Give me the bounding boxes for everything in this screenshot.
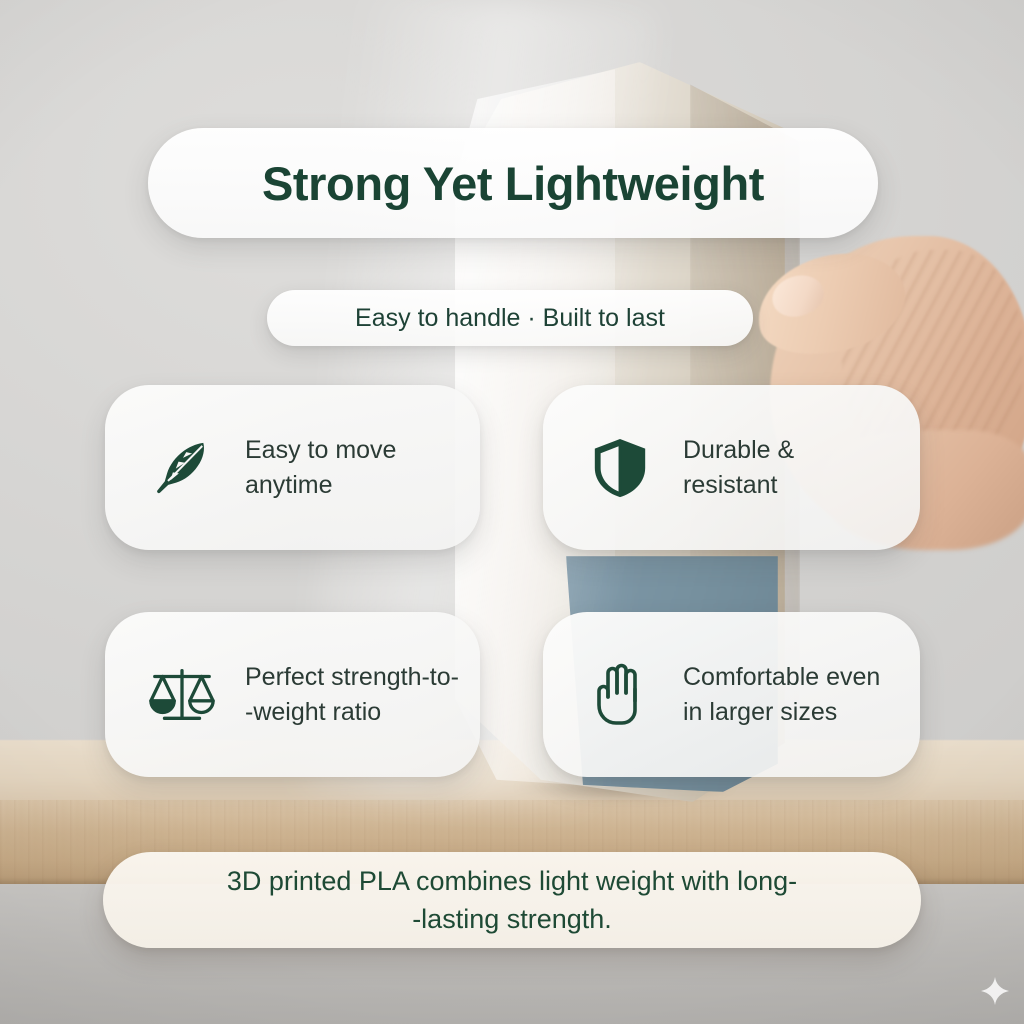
feature-line-1: Comfortable even — [683, 663, 880, 691]
feature-card-text: Durable & resistant — [683, 433, 794, 502]
subtitle-pill: Easy to handle · Built to last — [267, 290, 753, 346]
feature-line-2: -weight ratio — [245, 695, 459, 730]
feature-line-1: Perfect strength-to- — [245, 663, 459, 691]
footer-pill: 3D printed PLA combines light weight wit… — [103, 852, 921, 948]
feature-card-text: Easy to move anytime — [245, 433, 396, 502]
feature-card-text: Perfect strength-to- -weight ratio — [245, 660, 459, 729]
feature-line-2: resistant — [683, 468, 794, 503]
open-hand-icon — [583, 658, 657, 732]
feature-card-text: Comfortable even in larger sizes — [683, 660, 880, 729]
shield-icon — [583, 431, 657, 505]
overlay-ui: Strong Yet Lightweight Easy to handle · … — [0, 0, 1024, 1024]
title-pill: Strong Yet Lightweight — [148, 128, 878, 238]
page-title: Strong Yet Lightweight — [262, 156, 764, 211]
feature-card-strength-to-weight[interactable]: Perfect strength-to- -weight ratio — [105, 612, 480, 777]
feature-card-comfortable[interactable]: Comfortable even in larger sizes — [543, 612, 920, 777]
feature-card-easy-to-move[interactable]: Easy to move anytime — [105, 385, 480, 550]
feature-card-durable[interactable]: Durable & resistant — [543, 385, 920, 550]
infographic-canvas: Strong Yet Lightweight Easy to handle · … — [0, 0, 1024, 1024]
feather-icon — [145, 431, 219, 505]
footer-line-1: 3D printed PLA combines light weight wit… — [227, 862, 797, 900]
sparkle-icon — [981, 977, 1009, 1005]
feature-line-1: Durable & — [683, 436, 794, 464]
feature-line-2: in larger sizes — [683, 695, 880, 730]
footer-line-2: -lasting strength. — [412, 900, 612, 938]
page-subtitle: Easy to handle · Built to last — [355, 304, 665, 333]
feature-line-2: anytime — [245, 468, 396, 503]
feature-line-1: Easy to move — [245, 436, 396, 464]
balance-scale-icon — [145, 658, 219, 732]
